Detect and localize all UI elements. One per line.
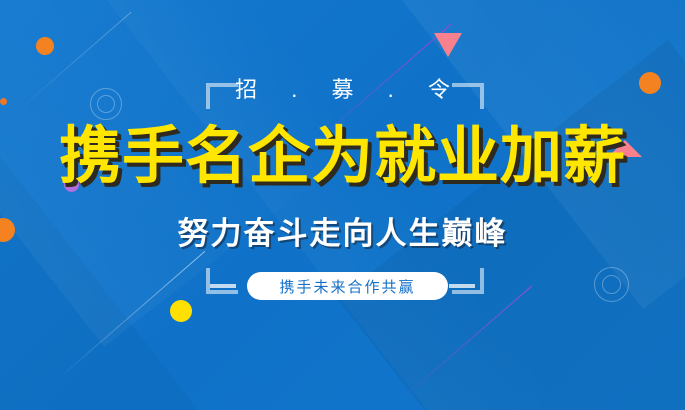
dash-left-of-pill (210, 284, 236, 288)
banner-background (0, 0, 685, 410)
dot-orange-top-left (36, 37, 54, 55)
slogan-pill-button[interactable]: 携手未来合作共赢 (247, 272, 448, 300)
bracket-bottom-right (452, 268, 484, 294)
bracket-bottom-left (206, 268, 238, 294)
eyebrow-text: 招 . 募 . 令 (0, 72, 685, 104)
slogan-pill-label: 携手未来合作共赢 (279, 276, 415, 297)
subheadline-text: 努力奋斗走向人生巅峰 (0, 208, 685, 253)
headline-text: 携手名企为就业加薪 (0, 122, 685, 192)
dash-right-of-pill (449, 284, 475, 288)
triangle-pink-down-icon (434, 33, 462, 57)
ring-bottom-right-inner (602, 275, 621, 294)
dot-yellow-left (170, 300, 192, 322)
ring-bottom-right (594, 267, 629, 302)
recruitment-banner: 招 . 募 . 令 携手名企为就业加薪 努力奋斗走向人生巅峰 携手未来合作共赢 (0, 0, 685, 410)
